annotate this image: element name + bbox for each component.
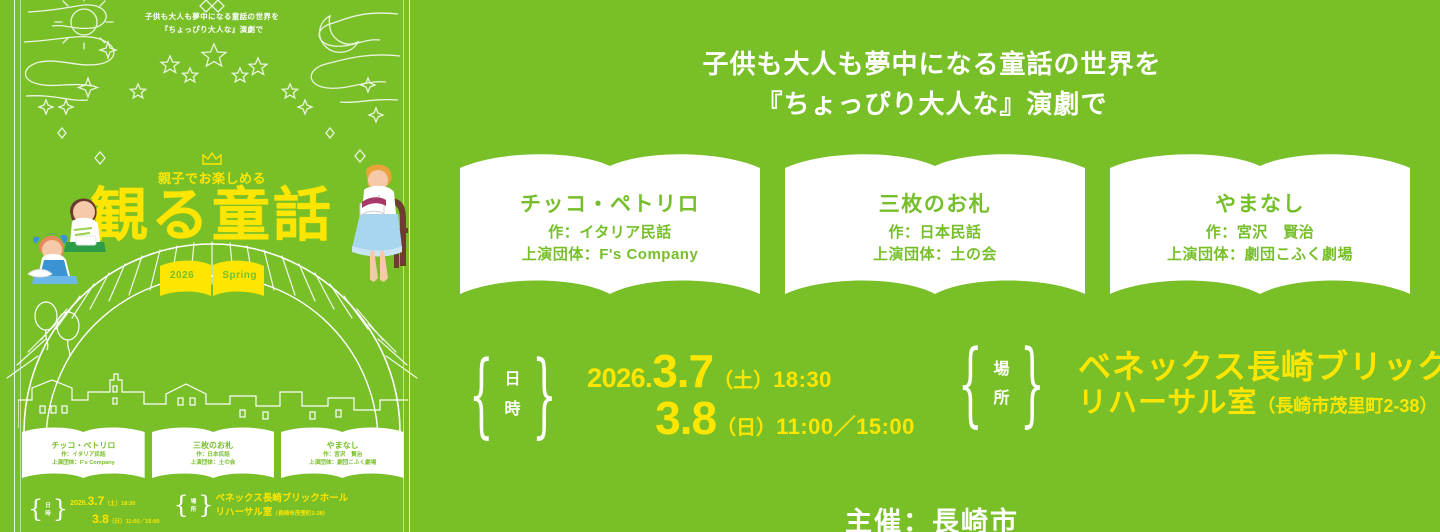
poster-card-company: 上演団体：土の会 [191,459,236,467]
poster-date2-dow: （日） [109,519,126,525]
date2-time: 11:00／15:00 [776,416,915,438]
poster-program-card: やまなし 作：宮沢 賢治 上演団体：劇団こふく劇場 [281,426,404,484]
poster-dates: 2026.3.7（土）18:30 3.8（日）11:00／15:00 [70,492,159,528]
date2-dow: （日） [716,418,776,438]
poster-card-author: 作：宮沢 賢治 [323,451,362,459]
venue-group: { 場 所 { ベネックス長崎ブリックホール リハーサル室（長崎市茂里町2-38… [941,348,1440,421]
event-dates: 2026. 3.7 （土） 18:30 3.8 （日） 11:00／15:00 [587,348,915,442]
date1-day: 3.7 [652,348,713,395]
poster-page: 子供も大人も夢中になる童話の世界を 『ちょっぴり大人な』演劇で こども向け演劇公… [0,0,1440,532]
poster-venue-label: 場 所 [191,498,197,515]
program-cards: チッコ・ペトリロ 作：イタリア民話 上演団体：F's Company 三枚のお札… [460,152,1410,310]
poster-program-card: チッコ・ペトリロ 作：イタリア民話 上演団体：F's Company [22,426,145,484]
poster-datetime-block: { 日 時 } 2026.3.7（土）18:30 3.8（日）11:00／15:… [28,492,159,528]
crown-icon [201,152,223,166]
right-brace: { [1020,348,1045,420]
card-company: 上演団体：F's Company [522,244,699,266]
left-brace: { [469,359,494,431]
datetime-label-char1: 日 [505,365,521,395]
date2-day: 3.8 [655,395,716,442]
date-year: 2026. [587,365,652,393]
poster-venue: ベネックス長崎ブリックホール リハーサル室（長崎市茂里町2-38） [216,492,349,520]
venue-label-char2: 所 [993,384,1009,414]
poster-date2-day: 3.8 [92,512,109,526]
left-brace: { [28,499,43,521]
poster-year: 2026 [170,270,194,281]
program-card-yamanashi[interactable]: やまなし 作：宮沢 賢治 上演団体：劇団こふく劇場 [1110,152,1410,310]
right-brace: } [198,495,213,517]
poster-venue-line1: ベネックス長崎ブリックホール [216,492,349,506]
datetime-label-char2: 時 [505,395,521,425]
main-tagline: 子供も大人も夢中になる童話の世界を 『ちょっぴり大人な』演劇で [424,44,1440,125]
poster-card-author: 作：イタリア民話 [61,451,106,459]
town-skyline [18,370,408,430]
date1-dow: （土） [713,371,773,391]
poster-thumbnail: 子供も大人も夢中になる童話の世界を 『ちょっぴり大人な』演劇で こども向け演劇公… [0,0,424,532]
poster-tagline-line1: 子供も大人も夢中になる童話の世界を [0,10,424,23]
children-reading-illustration [20,186,112,296]
poster-info-bar: { 日 時 } 2026.3.7（土）18:30 3.8（日）11:00／15:… [28,492,408,528]
poster-date1-time: 18:30 [121,501,135,507]
poster-venue-address: （長崎市茂里町2-38） [272,511,328,517]
card-author: 作：日本民話 [888,222,981,244]
poster-venue-line2: リハーサル室 [216,507,273,518]
poster-tagline: 子供も大人も夢中になる童話の世界を 『ちょっぴり大人な』演劇で [0,10,424,36]
program-card-sanmai[interactable]: 三枚のお札 作：日本民話 上演団体：土の会 [785,152,1085,310]
venue-line1: ベネックス長崎ブリックホール [1078,348,1440,386]
card-company: 上演団体：劇団こふく劇場 [1167,244,1353,266]
datetime-group: { 日 時 { 2026. 3.7 （土） 18:30 3.8 （日） [452,348,915,442]
event-info-bar: { 日 時 { 2026. 3.7 （土） 18:30 3.8 （日） [452,348,1440,442]
balloons-icon [30,300,100,362]
card-author: 作：イタリア民話 [548,222,671,244]
venue-label: 場 所 [993,355,1009,414]
right-brace: { [532,359,557,431]
poster-season: Spring [222,270,257,281]
poster-year-book: 2026 Spring [158,258,266,298]
card-title: チッコ・ペトリロ [520,192,700,217]
poster-card-title: やまなし [327,441,359,451]
card-title: やまなし [1215,192,1305,217]
right-brace: } [53,499,68,521]
card-author: 作：宮沢 賢治 [1206,222,1315,244]
venue-address: （長崎市茂里町2-38） [1257,396,1437,416]
poster-date2-time: 11:00／15:00 [126,519,160,525]
poster-tagline-line2: 『ちょっぴり大人な』演劇で [0,23,424,36]
poster-date1-day: 3.7 [88,494,105,508]
date1-time: 18:30 [773,369,832,391]
card-company: 上演団体：土の会 [873,244,997,266]
venue-line2: リハーサル室 [1078,387,1257,419]
poster-program-card: 三枚のお札 作：日本民話 上演団体：土の会 [152,426,275,484]
poster-date1-dow: （土） [104,501,121,507]
main-tagline-line1: 子供も大人も夢中になる童話の世界を [424,44,1440,84]
left-brace: { [958,348,983,420]
poster-card-title: 三枚のお札 [193,441,233,451]
card-title: 三枚のお札 [879,192,992,217]
poster-card-company: 上演団体：F's Company [52,459,115,467]
woman-reading-illustration [344,162,420,294]
poster-datetime-label: 日 時 [45,502,51,519]
poster-card-title: チッコ・ペトリロ [51,441,115,451]
poster-venue-block: { 場 所 } ベネックス長崎ブリックホール リハーサル室（長崎市茂里町2-38… [173,492,348,520]
program-card-chicco[interactable]: チッコ・ペトリロ 作：イタリア民話 上演団体：F's Company [460,152,760,310]
venue-label-char1: 場 [993,355,1009,385]
main-panel: 子供も大人も夢中になる童話の世界を 『ちょっぴり大人な』演劇で チッコ・ペトリロ… [424,0,1440,532]
event-host: 主催：長崎市 [424,500,1440,532]
datetime-label: 日 時 [505,365,521,424]
left-brace: { [173,495,188,517]
poster-card-company: 上演団体：劇団こふく劇場 [309,459,376,467]
poster-program-cards: チッコ・ペトリロ 作：イタリア民話 上演団体：F's Company 三枚のお札… [22,426,404,484]
poster-date-year: 2026. [70,500,88,507]
main-tagline-line2: 『ちょっぴり大人な』演劇で [424,84,1440,124]
event-venue: ベネックス長崎ブリックホール リハーサル室（長崎市茂里町2-38） [1078,348,1440,421]
poster-card-author: 作：日本民話 [196,451,230,459]
